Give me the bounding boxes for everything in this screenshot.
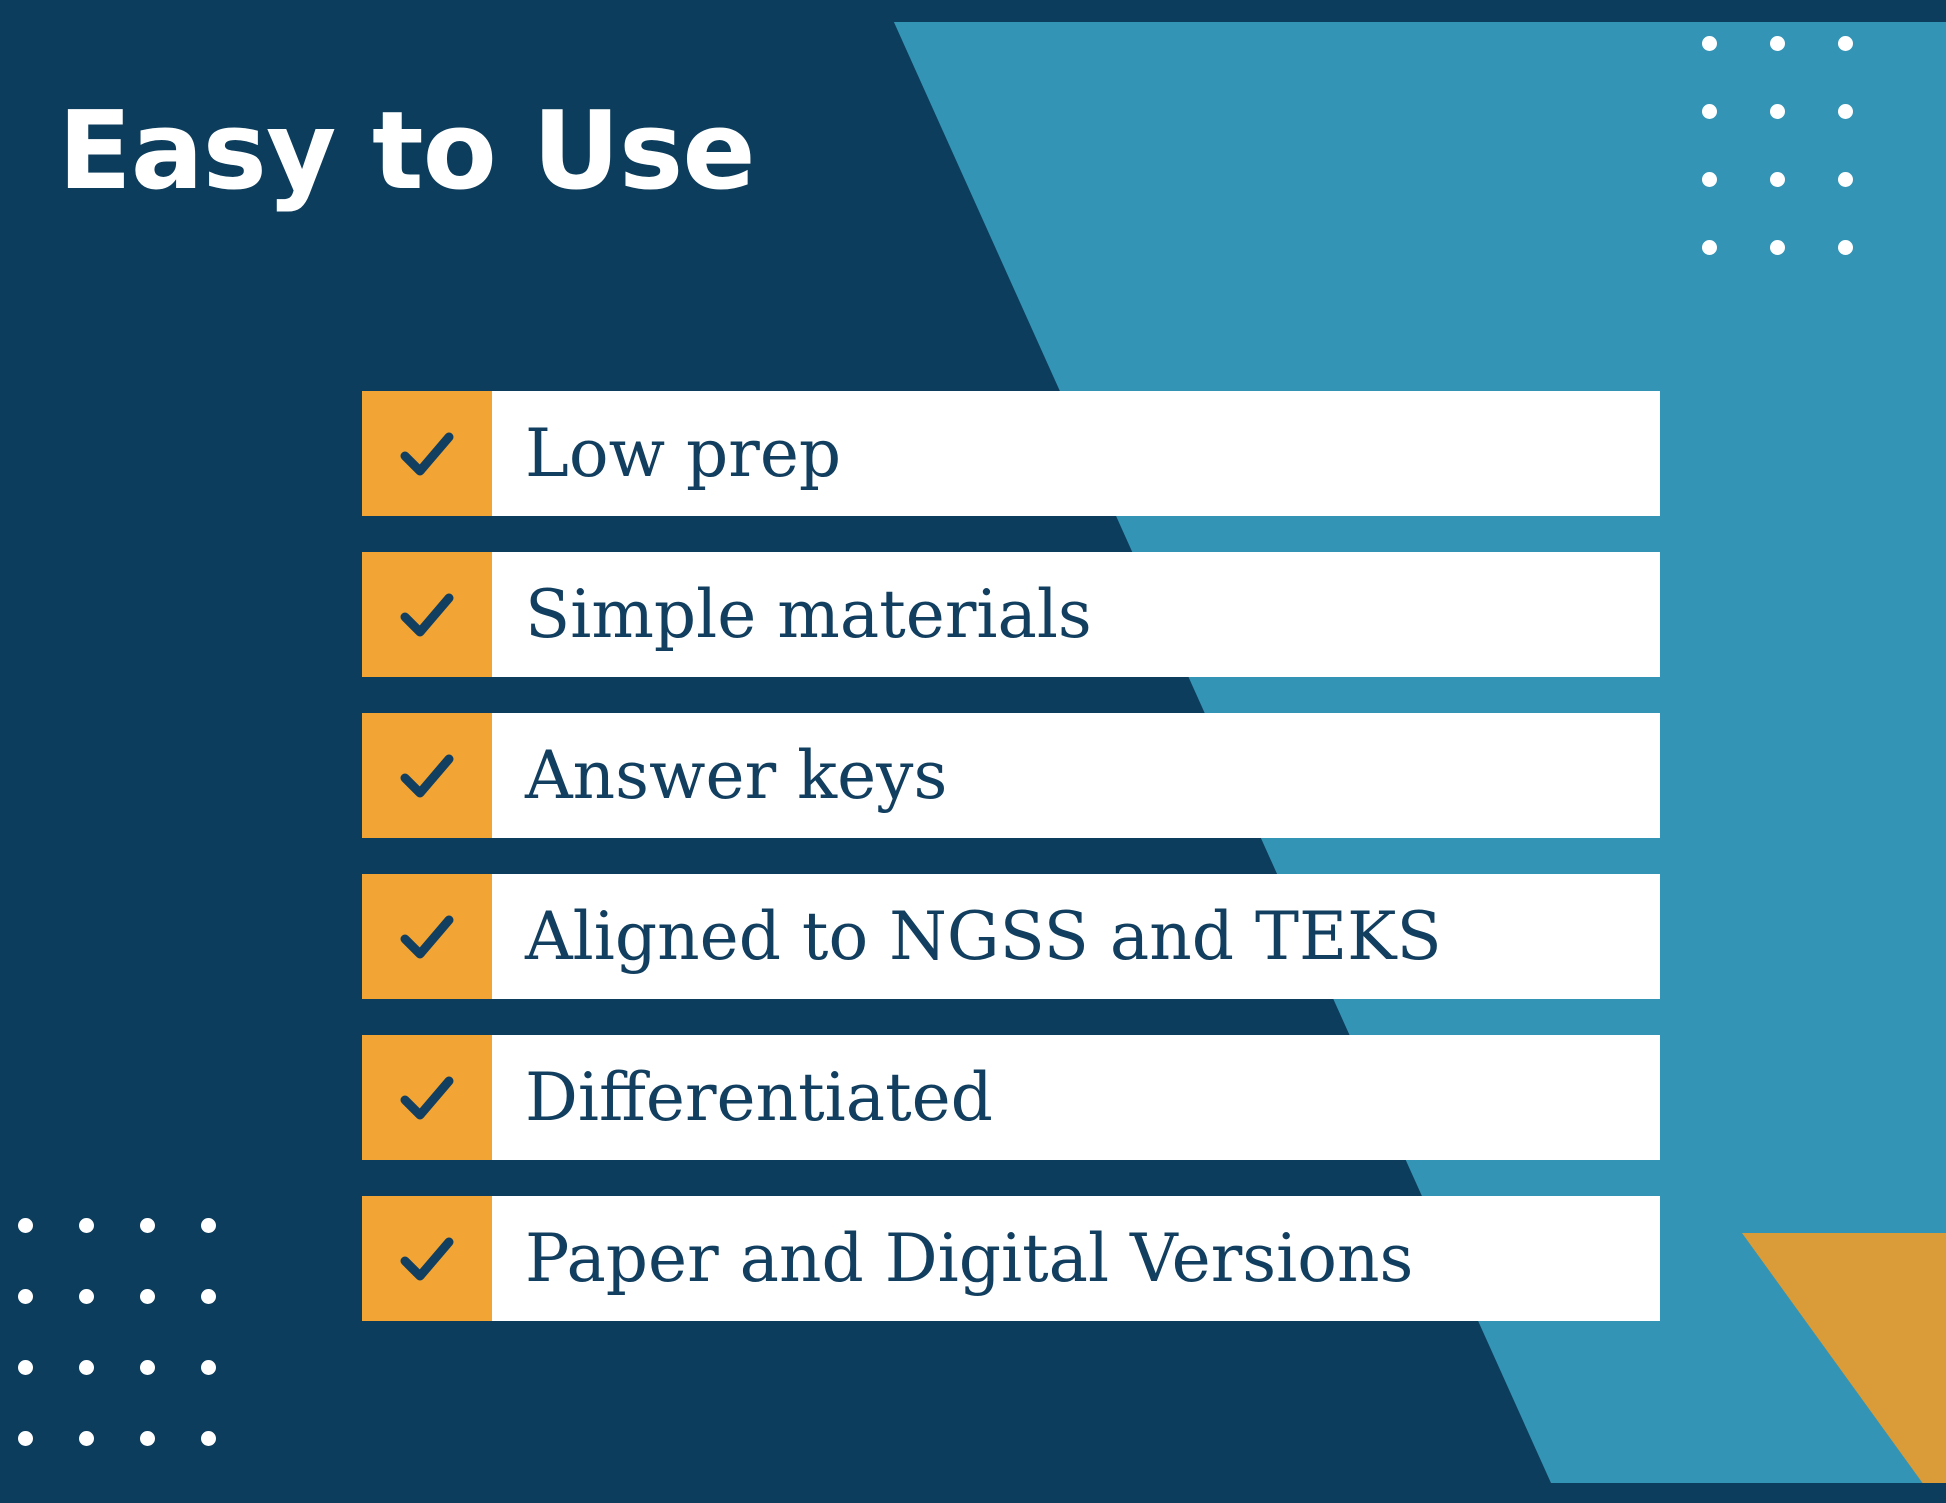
checklist-item[interactable]: Paper and Digital Versions	[362, 1196, 1660, 1321]
page-title: Easy to Use	[58, 95, 755, 208]
dot	[1770, 240, 1785, 255]
dot	[18, 1360, 33, 1375]
dot	[140, 1431, 155, 1446]
dot	[79, 1360, 94, 1375]
bottom-navy-strip	[0, 1483, 1946, 1503]
dot	[1770, 172, 1785, 187]
checklist-item-label: Low prep	[492, 421, 1660, 487]
check-icon	[362, 713, 492, 838]
dot	[1770, 104, 1785, 119]
check-icon	[362, 1196, 492, 1321]
dot	[201, 1218, 216, 1233]
dot	[79, 1218, 94, 1233]
dot	[1838, 172, 1853, 187]
dot	[1702, 172, 1717, 187]
dot	[1702, 240, 1717, 255]
check-icon	[362, 391, 492, 516]
dot	[18, 1218, 33, 1233]
checklist-item[interactable]: Simple materials	[362, 552, 1660, 677]
checklist-item[interactable]: Low prep	[362, 391, 1660, 516]
dot	[79, 1289, 94, 1304]
dot	[1838, 36, 1853, 51]
dot	[18, 1431, 33, 1446]
checklist-item-label: Paper and Digital Versions	[492, 1226, 1660, 1292]
check-icon	[362, 874, 492, 999]
checklist-item[interactable]: Answer keys	[362, 713, 1660, 838]
top-navy-strip	[0, 0, 1946, 22]
dot	[201, 1360, 216, 1375]
dot	[1838, 240, 1853, 255]
check-icon	[362, 1035, 492, 1160]
checklist-item-label: Aligned to NGSS and TEKS	[492, 904, 1660, 970]
dot	[79, 1431, 94, 1446]
dot	[201, 1431, 216, 1446]
dot	[201, 1289, 216, 1304]
feature-checklist: Low prep Simple materials Answer keys	[362, 391, 1660, 1357]
dot	[1770, 36, 1785, 51]
dot	[1702, 36, 1717, 51]
checklist-item[interactable]: Aligned to NGSS and TEKS	[362, 874, 1660, 999]
dot	[1702, 104, 1717, 119]
check-icon	[362, 552, 492, 677]
checklist-item-label: Simple materials	[492, 582, 1660, 648]
dot	[140, 1289, 155, 1304]
dot	[140, 1218, 155, 1233]
dot	[1838, 104, 1853, 119]
checklist-item-label: Differentiated	[492, 1065, 1660, 1131]
dot-grid-bottom-left	[18, 1218, 216, 1446]
dot-grid-top-right	[1702, 36, 1853, 255]
dot	[140, 1360, 155, 1375]
checklist-item[interactable]: Differentiated	[362, 1035, 1660, 1160]
slide-canvas: Easy to Use Low prep Simple materials	[0, 0, 1946, 1503]
dot	[18, 1289, 33, 1304]
checklist-item-label: Answer keys	[492, 743, 1660, 809]
